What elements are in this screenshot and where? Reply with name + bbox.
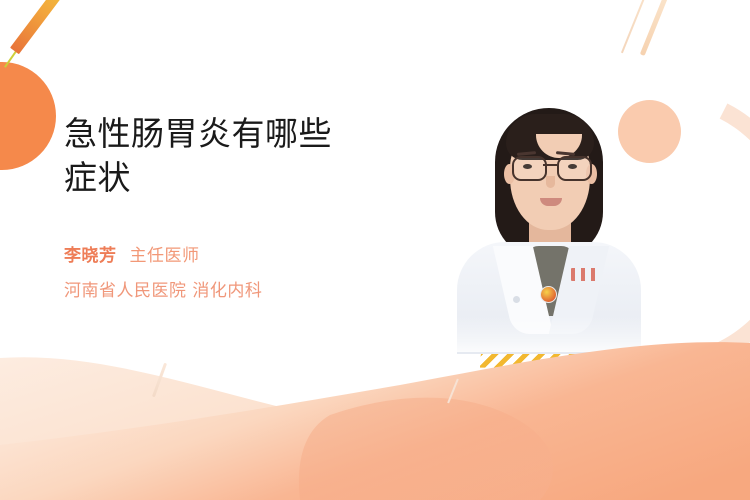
video-cover-card: 急性肠胃炎有哪些 症状 李晓芳主任医师 河南省人民医院 消化内科 bbox=[0, 0, 750, 500]
portrait-bottom-fade bbox=[443, 316, 655, 352]
doctor-byline: 李晓芳主任医师 bbox=[64, 247, 434, 266]
doctor-portrait bbox=[443, 100, 655, 352]
glasses-lens-left bbox=[512, 156, 547, 181]
doctor-title: 主任医师 bbox=[130, 246, 200, 266]
cover-text-block: 急性肠胃炎有哪些 症状 李晓芳主任医师 河南省人民医院 消化内科 bbox=[64, 112, 434, 301]
enamel-pin-badge bbox=[540, 286, 557, 303]
orange-circle-left-decoration bbox=[0, 62, 56, 170]
nose bbox=[546, 176, 555, 188]
glasses-icon bbox=[511, 156, 589, 178]
glasses-lens-right bbox=[557, 156, 592, 181]
doctor-name: 李晓芳 bbox=[64, 246, 117, 266]
coat-embroidered-text bbox=[571, 268, 597, 281]
faint-diagonal-streak-2-decoration bbox=[447, 379, 459, 404]
doctor-affiliation: 河南省人民医院 消化内科 bbox=[64, 282, 434, 301]
coat-button bbox=[513, 296, 520, 303]
lime-diagonal-streak-decoration bbox=[4, 0, 62, 68]
faint-diagonal-streak-decoration bbox=[152, 363, 167, 398]
page-title: 急性肠胃炎有哪些 症状 bbox=[64, 112, 434, 200]
glasses-bridge bbox=[543, 164, 557, 166]
cream-diagonal-streak-b-decoration bbox=[621, 0, 655, 53]
cream-diagonal-streak-a-decoration bbox=[640, 0, 675, 56]
amber-diagonal-streak-decoration bbox=[10, 0, 73, 54]
